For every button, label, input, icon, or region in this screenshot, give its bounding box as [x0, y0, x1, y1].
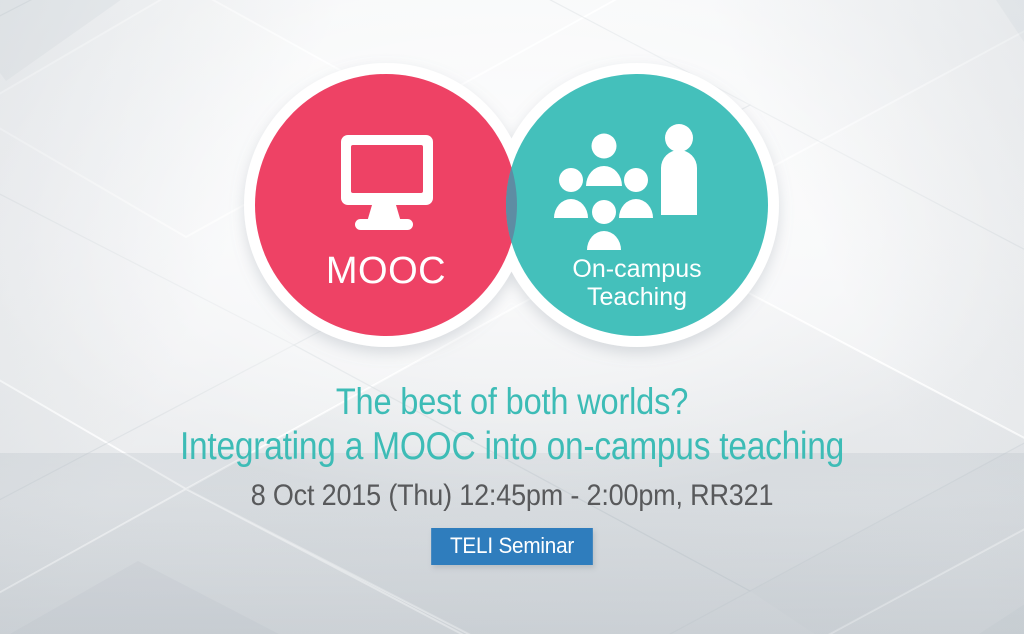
- tag-row: TELI Seminar: [0, 528, 1024, 565]
- mooc-label: MOOC: [326, 250, 446, 292]
- poster-canvas: MOOC On-campus Teaching The best of both…: [0, 0, 1024, 634]
- venn-diagram: MOOC On-campus Teaching: [0, 0, 1024, 380]
- on-campus-label-line1: On-campus: [572, 255, 701, 283]
- subheadline: Integrating a MOOC into on-campus teachi…: [72, 426, 953, 468]
- event-datetime-venue: 8 Oct 2015 (Thu) 12:45pm - 2:00pm, RR321: [51, 479, 973, 512]
- poster-text-block: The best of both worlds? Integrating a M…: [0, 383, 1024, 565]
- on-campus-label-line2: Teaching: [587, 283, 687, 311]
- headline: The best of both worlds?: [61, 383, 962, 422]
- teli-seminar-tag[interactable]: TELI Seminar: [431, 528, 593, 565]
